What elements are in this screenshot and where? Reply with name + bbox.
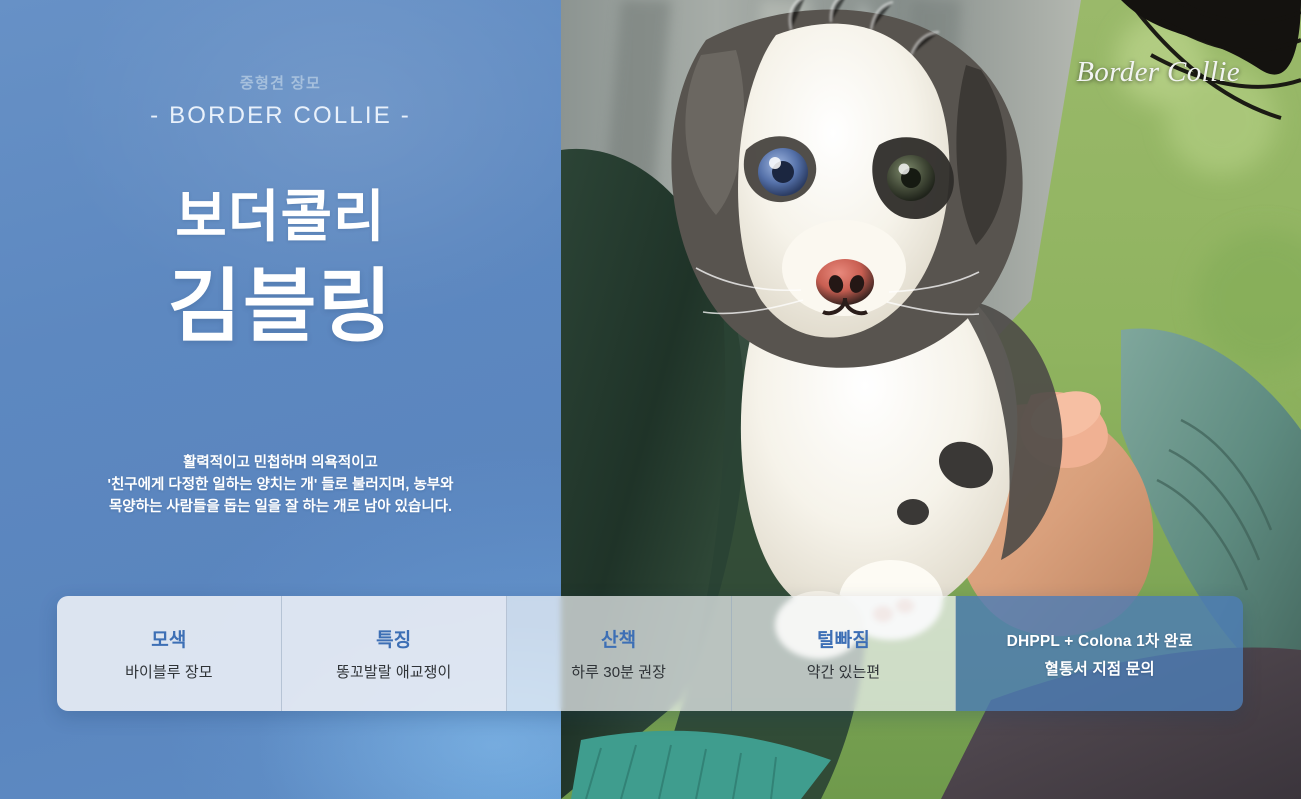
description-line-2: '친구에게 다정한 일하는 양치는 개' 들로 불러지며, 농부와 [0, 474, 561, 496]
info-card-traits-value: 똥꼬발랄 애교쟁이 [336, 661, 451, 682]
info-card-strip: 모색 바이블루 장모 특징 똥꼬발랄 애교쟁이 산책 하루 30분 권장 털빠짐… [57, 596, 1243, 711]
description-line-3: 목양하는 사람들을 돕는 일을 잘 하는 개로 남아 있습니다. [0, 496, 561, 518]
info-card-coat[interactable]: 모색 바이블루 장모 [57, 596, 282, 711]
photo-script-label: Border Collie [1076, 56, 1240, 89]
brand-kicker: 중형견 장모 [0, 72, 561, 93]
info-card-coat-title: 모색 [151, 625, 186, 652]
breed-description: 활력적이고 민첩하며 의욕적이고 '친구에게 다정한 일하는 양치는 개' 들로… [0, 452, 561, 518]
info-card-shedding[interactable]: 털빠짐 약간 있는편 [732, 596, 957, 711]
name-block: 보더콜리 김블링 [0, 188, 561, 349]
info-card-walk-value: 하루 30분 권장 [571, 661, 666, 682]
info-card-traits-title: 특징 [376, 625, 411, 652]
brand-latin-title: - BORDER COLLIE - [0, 102, 561, 130]
info-card-shedding-value: 약간 있는편 [807, 661, 881, 682]
vaccination-line-2: 혈통서 지점 문의 [1045, 657, 1155, 679]
breed-name-heading: 보더콜리 [0, 188, 561, 247]
info-card-shedding-title: 털빠짐 [817, 625, 870, 652]
brand-block: 중형견 장모 - BORDER COLLIE - [0, 72, 561, 130]
profile-card-stage: 중형견 장모 - BORDER COLLIE - 보더콜리 김블링 활력적이고 … [0, 0, 1301, 799]
dog-name-heading: 김블링 [0, 265, 561, 349]
info-card-walk[interactable]: 산책 하루 30분 권장 [507, 596, 732, 711]
description-line-1: 활력적이고 민첩하며 의욕적이고 [0, 452, 561, 474]
info-card-traits[interactable]: 특징 똥꼬발랄 애교쟁이 [282, 596, 507, 711]
vaccination-line-1: DHPPL + Colona 1차 완료 [1007, 629, 1193, 651]
info-card-coat-value: 바이블루 장모 [125, 661, 213, 682]
info-card-walk-title: 산책 [601, 625, 636, 652]
info-card-vaccination[interactable]: DHPPL + Colona 1차 완료 혈통서 지점 문의 [956, 596, 1243, 711]
